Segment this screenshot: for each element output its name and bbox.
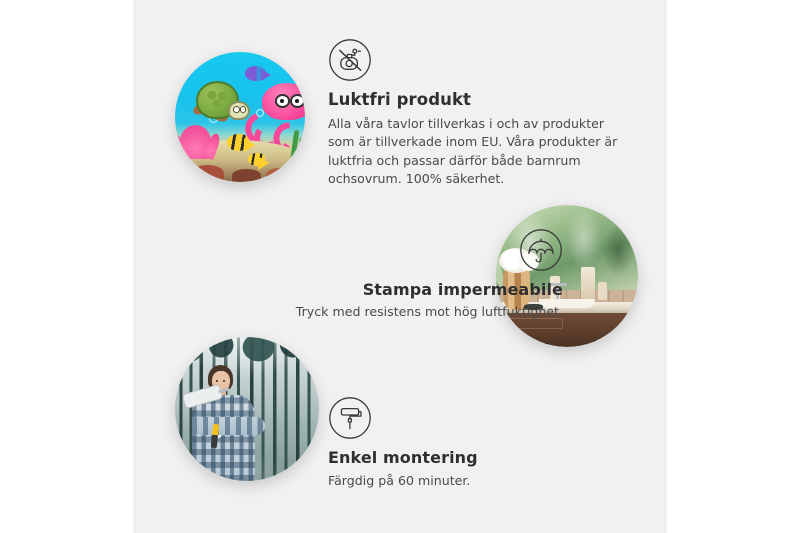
purple-fish-icon — [245, 66, 266, 80]
person-plaid-shirt — [192, 395, 255, 481]
seabed-rock — [191, 165, 225, 182]
content-panel: Luktfri produkt Alla våra tavlor tillver… — [133, 0, 667, 533]
paint-roller-icon — [328, 396, 372, 440]
cabinet-handle — [594, 340, 598, 346]
feature-title: Enkel montering — [328, 448, 588, 467]
forest-scene — [175, 337, 319, 481]
turtle-icon — [192, 81, 244, 125]
underwater-cartoon-image — [175, 52, 305, 182]
seabed-rock — [266, 168, 292, 182]
no-fragrance-icon — [328, 38, 372, 82]
forest-decorator-image — [175, 337, 319, 481]
feature-title: Luktfri produkt — [328, 90, 628, 110]
octopus-eye — [275, 94, 290, 108]
person-folded-arms — [192, 417, 265, 435]
coral-icon — [180, 125, 211, 159]
feature-body: Alla våra tavlor tillverkas i och av pro… — [328, 115, 628, 189]
yellow-fish-icon — [227, 134, 249, 151]
yellow-fish-icon — [248, 153, 265, 166]
decorator-person — [187, 363, 271, 481]
cabinet-handle — [617, 340, 621, 346]
feature-block-waterproof: Stampa impermeabile Tryck med resistens … — [218, 228, 563, 322]
toiletry-bottle — [581, 267, 595, 301]
umbrella-icon — [519, 228, 563, 272]
turtle-head — [228, 101, 250, 120]
drawer-handle — [511, 343, 549, 344]
underwater-scene — [175, 52, 305, 182]
feature-block-odourless: Luktfri produkt Alla våra tavlor tillver… — [328, 38, 628, 188]
promo-banner: Luktfri produkt Alla våra tavlor tillver… — [0, 0, 800, 533]
octopus-eye — [290, 94, 305, 108]
feature-body: Färgdig på 60 minuter. — [328, 472, 588, 490]
feature-body: Tryck med resistens mot hög luftfuktighe… — [218, 303, 563, 321]
feature-block-easy-install: Enkel montering Färgdig på 60 minuter. — [328, 396, 588, 491]
toiletry-bottle — [598, 282, 607, 300]
feature-title: Stampa impermeabile — [218, 280, 563, 299]
seabed-rock — [232, 169, 261, 182]
octopus-body — [262, 83, 305, 120]
